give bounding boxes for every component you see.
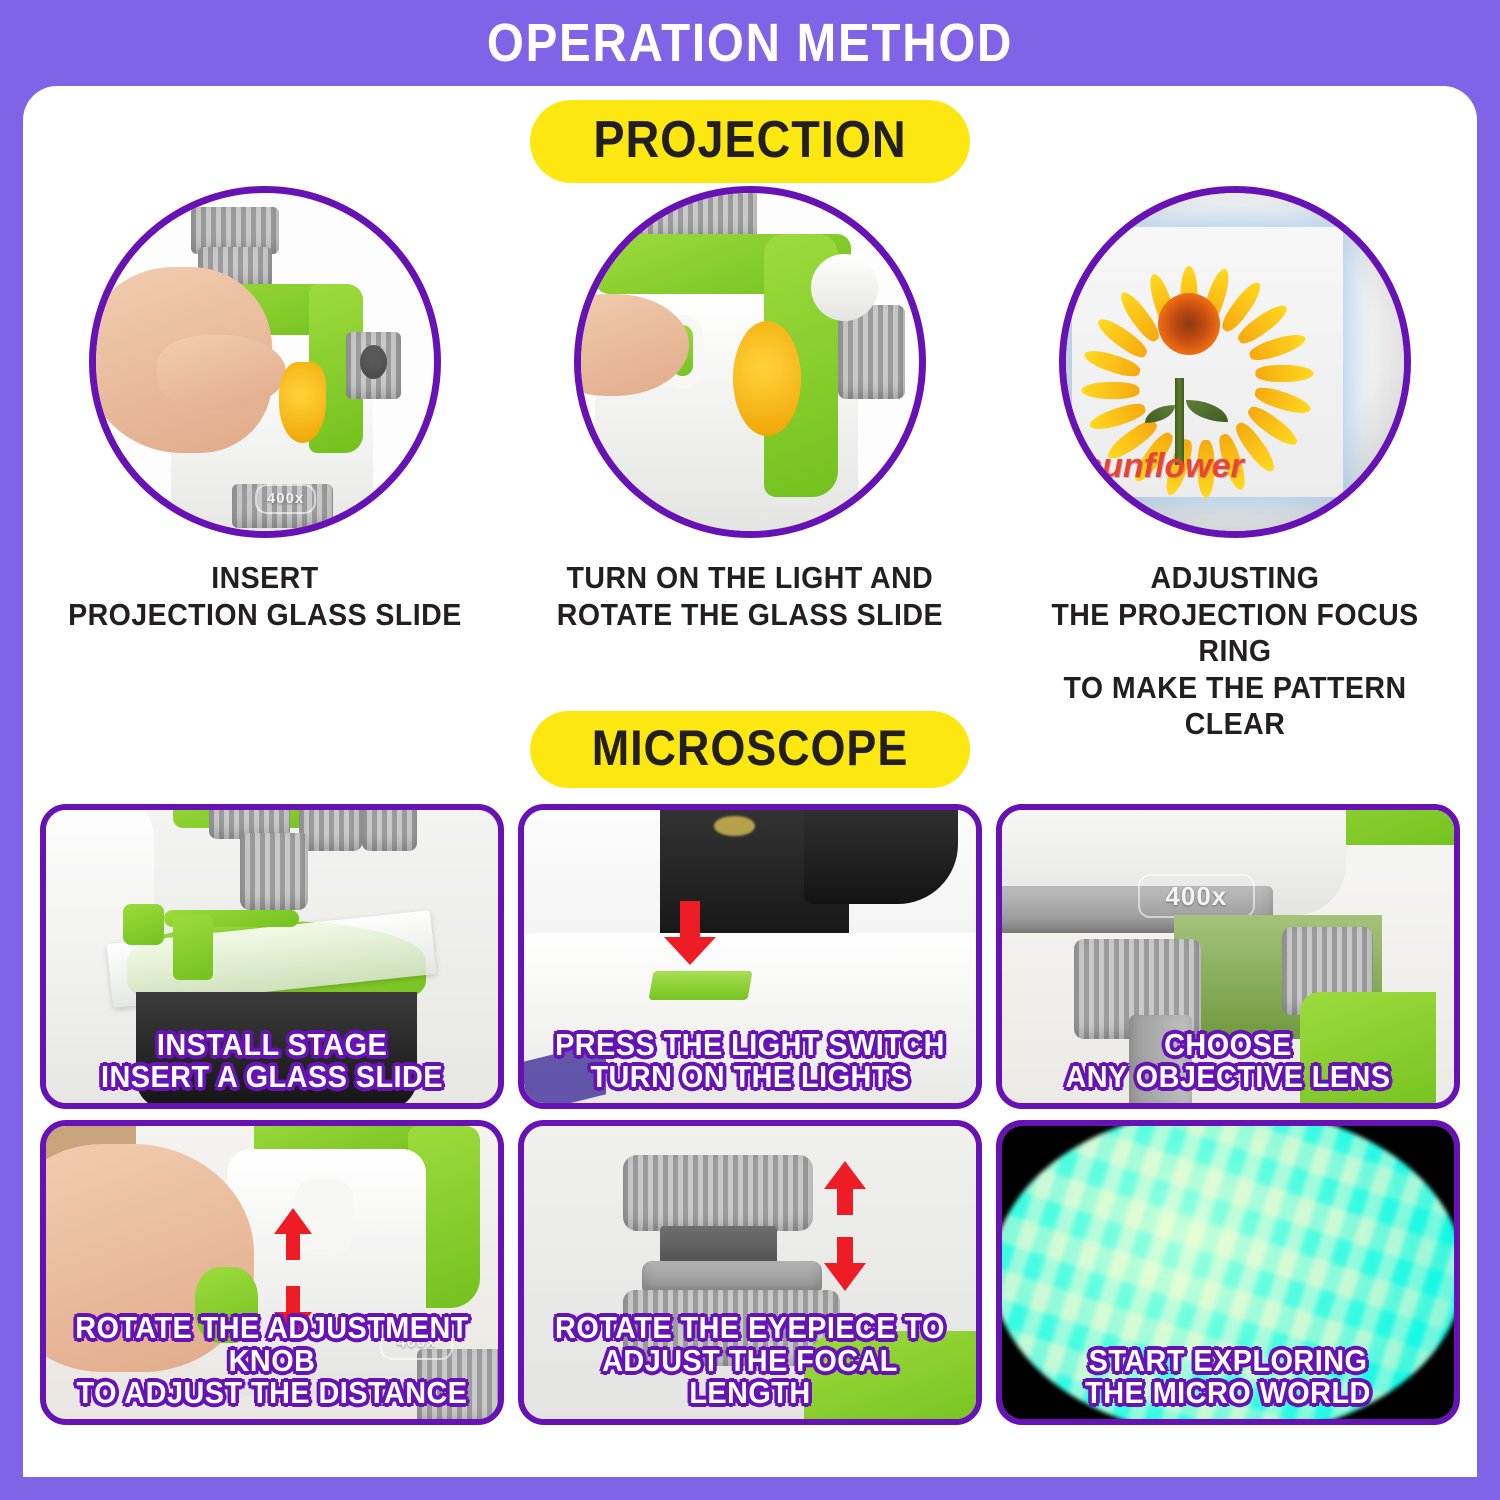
content-card: PROJECTION bbox=[23, 86, 1477, 1477]
eyepiece-focus-knobs-cell: ROTATE THE EYEPIECE TO ADJUST THE FOCAL … bbox=[518, 1120, 982, 1425]
projection-step-3: sunflower ADJUSTING THE PROJECTION FOCUS… bbox=[1005, 186, 1465, 743]
projection-step-3-caption: ADJUSTING THE PROJECTION FOCUS RING TO M… bbox=[1005, 560, 1465, 743]
poster-root: OPERATION METHOD PROJECTION bbox=[0, 0, 1500, 1500]
header-bar: OPERATION METHOD bbox=[0, 0, 1500, 86]
finger-pressing-light-switch-image bbox=[574, 186, 926, 538]
microscope-view-plant-cells-cell: START EXPLORING THE MICRO WORLD bbox=[996, 1120, 1460, 1425]
projection-step-2-caption: TURN ON THE LIGHT AND ROTATE THE GLASS S… bbox=[540, 560, 960, 633]
caption-line: INSERT bbox=[69, 560, 463, 597]
caption-line: ADJUSTING bbox=[1023, 560, 1446, 597]
section-badge-microscope-label: MICROSCOPE bbox=[592, 719, 909, 777]
projection-step-2: TURN ON THE LIGHT AND ROTATE THE GLASS S… bbox=[520, 186, 980, 633]
caption-line: TO MAKE THE PATTERN CLEAR bbox=[1023, 670, 1446, 743]
page-title: OPERATION METHOD bbox=[487, 12, 1013, 74]
microscope-field-of-view bbox=[1002, 1126, 1454, 1419]
caption-line: ROTATE THE GLASS SLIDE bbox=[557, 597, 943, 634]
projection-steps-row: 400x INSERT PROJECTION GLASS SLIDE bbox=[23, 186, 1477, 686]
caption-line: THE PROJECTION FOCUS RING bbox=[1023, 597, 1446, 670]
light-switch-button[interactable] bbox=[648, 971, 753, 1000]
objective-lens-turret-cell: 400x CHOOSE ANY OBJECTIVE LENS bbox=[996, 804, 1460, 1109]
projected-sunflower-image: sunflower bbox=[1059, 186, 1411, 538]
sunflower-word: sunflower bbox=[1083, 447, 1244, 486]
section-badge-projection-label: PROJECTION bbox=[593, 110, 906, 170]
red-arrow-updown-icon bbox=[272, 1208, 314, 1338]
light-switch-with-red-arrow-cell: PRESS THE LIGHT SWITCH TURN ON THE LIGHT… bbox=[518, 804, 982, 1109]
section-badge-microscope: MICROSCOPE bbox=[530, 711, 970, 788]
caption-line: TURN ON THE LIGHT AND bbox=[557, 560, 943, 597]
red-arrow-down-icon bbox=[660, 901, 720, 967]
magnification-label: 400x bbox=[255, 484, 316, 514]
magnification-label: 400x bbox=[380, 1325, 452, 1360]
red-arrow-updown-icon bbox=[822, 1161, 868, 1291]
section-badge-projection: PROJECTION bbox=[530, 100, 970, 183]
hand-inserting-projection-slide-image: 400x bbox=[89, 186, 441, 538]
projection-step-1: 400x INSERT PROJECTION GLASS SLIDE bbox=[35, 186, 495, 633]
hand-rotating-adjustment-knob-cell: 400x ROTATE THE ADJUSTMENT KNOB TO ADJUS… bbox=[40, 1120, 504, 1425]
magnification-label: 400x bbox=[1138, 874, 1256, 918]
caption-line: PROJECTION GLASS SLIDE bbox=[69, 597, 463, 634]
microscope-stage-with-slide-cell: INSTALL STAGE INSERT A GLASS SLIDE bbox=[40, 804, 504, 1109]
projection-frame: sunflower bbox=[1072, 227, 1342, 497]
microscope-steps-grid: INSTALL STAGE INSERT A GLASS SLIDE bbox=[40, 804, 1460, 1425]
projection-step-1-caption: INSERT PROJECTION GLASS SLIDE bbox=[51, 560, 479, 633]
